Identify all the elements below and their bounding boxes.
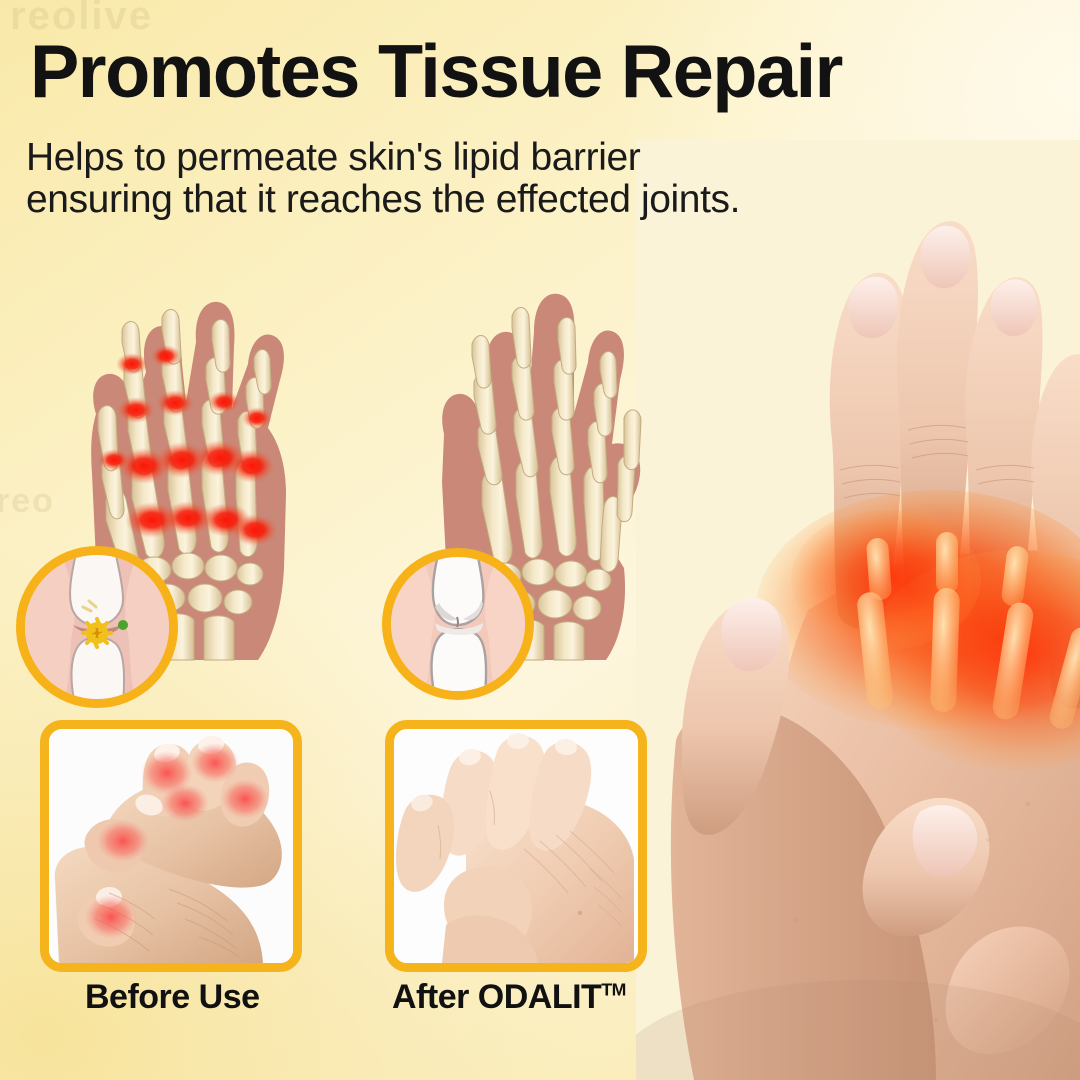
after-photo-frame[interactable] [385,720,647,972]
page-subtitle: Helps to permeate skin's lipid barrier e… [26,137,786,220]
after-caption-text: After ODALIT [392,978,601,1016]
healthy-joint-closeup-inset [382,548,534,700]
after-photo [394,729,638,963]
before-photo-frame[interactable] [40,720,302,972]
trademark-mark: TM [601,980,626,1000]
before-photo [49,729,293,963]
hero-photo-hands-in-pain [636,140,1080,1080]
after-caption: After ODALITTM [392,978,626,1017]
before-caption: Before Use [85,978,260,1017]
damaged-joint-closeup-inset [16,546,178,708]
infographic-canvas: reolive reo reolive olive [0,0,1080,1080]
page-title: Promotes Tissue Repair [30,34,842,109]
